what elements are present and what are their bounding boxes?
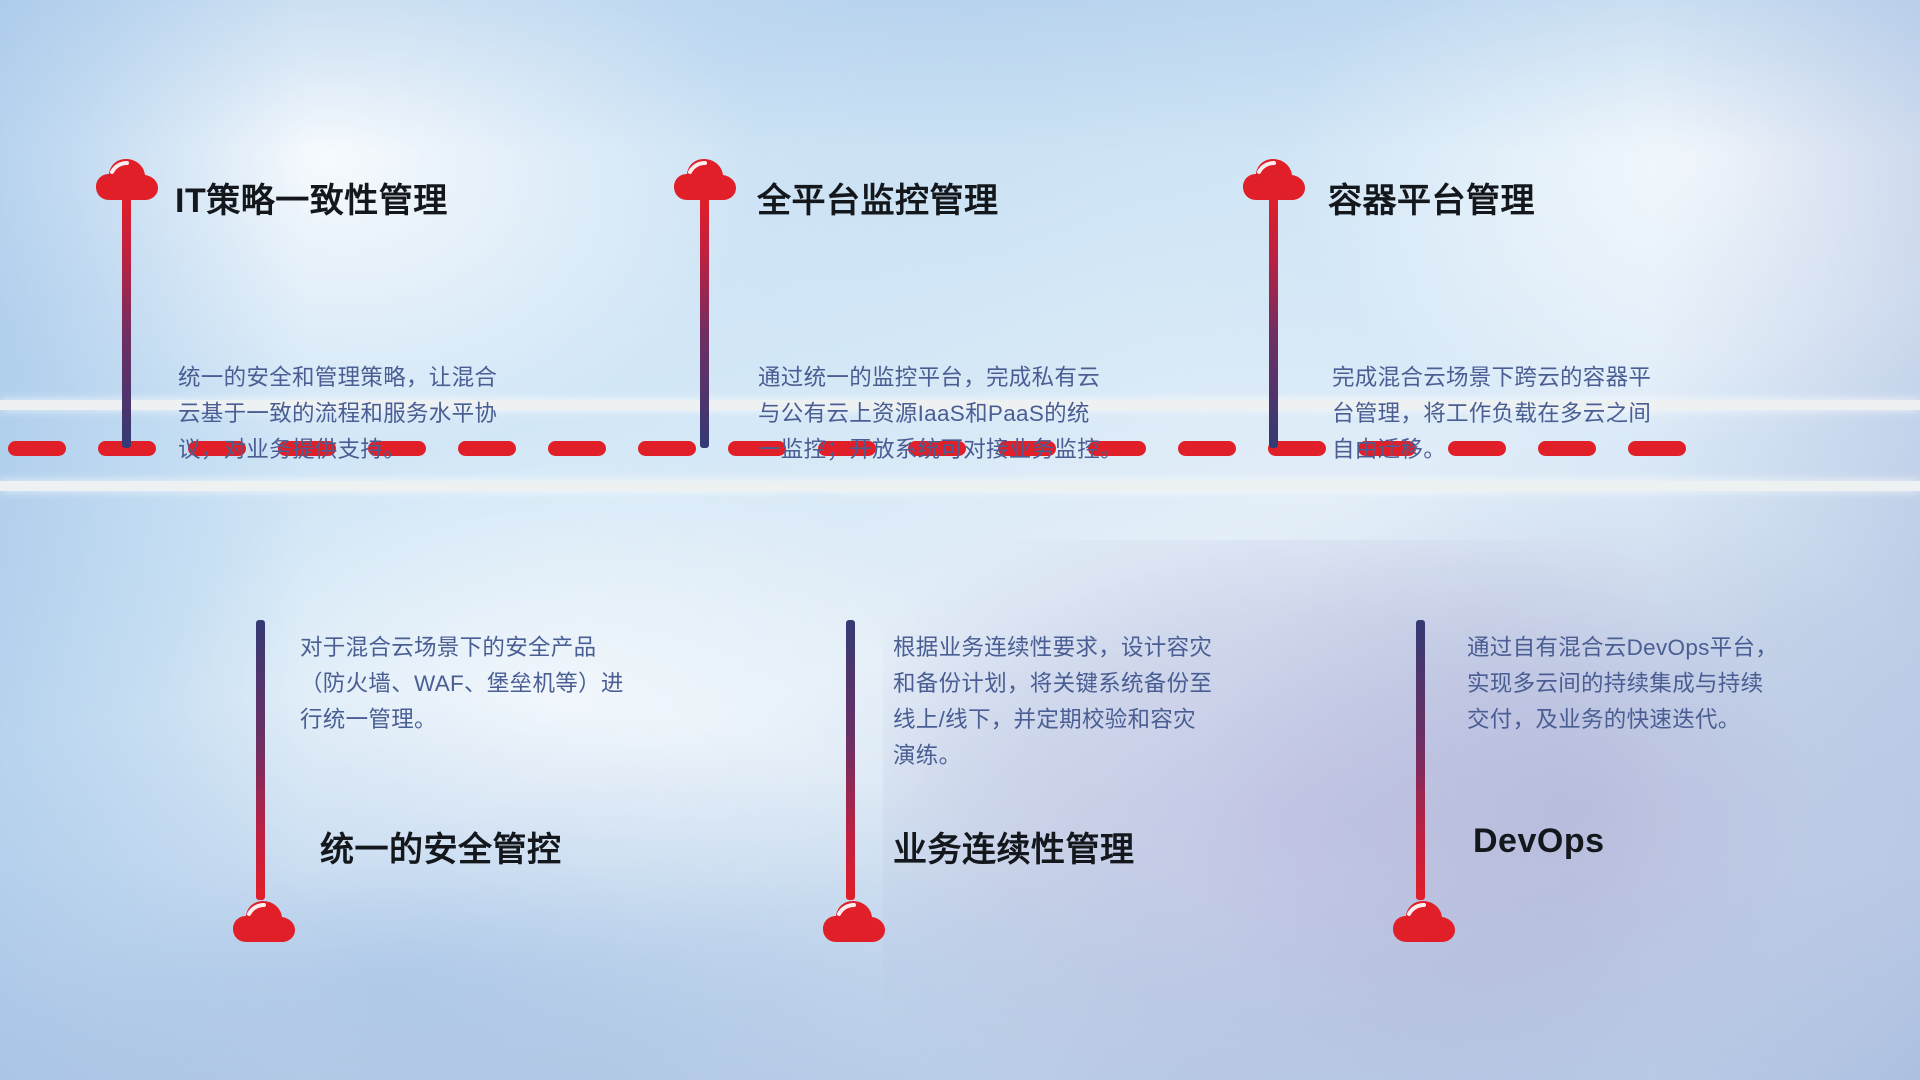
feature-title: 业务连续性管理 [893, 822, 1333, 871]
desc-line: 和备份计划，将关键系统备份至 [893, 666, 1363, 702]
desc-line: 完成混合云场景下跨云的容器平 [1332, 360, 1782, 396]
cloud-pin-2 [674, 158, 736, 202]
feature-block-6: DevOps [1473, 822, 1773, 861]
feature-title: DevOps [1473, 822, 1773, 861]
desc-line: 统一的安全和管理策略，让混合 [178, 360, 638, 396]
desc-line: 通过自有混合云DevOps平台， [1467, 630, 1917, 666]
desc-line: 台管理，将工作负载在多云之间 [1332, 396, 1782, 432]
desc-line: 行统一管理。 [300, 702, 770, 738]
pin-bar [122, 198, 131, 448]
feature-description: 完成混合云场景下跨云的容器平 台管理，将工作负载在多云之间 自由迁移。 [1332, 360, 1782, 468]
desc-line: 通过统一的监控平台，完成私有云 [758, 360, 1228, 396]
feature-block-5: 业务连续性管理 [893, 822, 1333, 871]
desc-line: 实现多云间的持续集成与持续 [1467, 666, 1917, 702]
feature-block-4: 统一的安全管控 [320, 822, 760, 871]
pin-bar [700, 198, 709, 448]
road-dash [8, 441, 66, 456]
desc-line: 与公有云上资源IaaS和PaaS的统 [758, 396, 1228, 432]
feature-description: 对于混合云场景下的安全产品 （防火墙、WAF、堡垒机等）进 行统一管理。 [300, 630, 770, 738]
feature-title: 统一的安全管控 [320, 822, 760, 871]
pin-bar [1416, 620, 1425, 900]
desc-line: （防火墙、WAF、堡垒机等）进 [300, 666, 770, 702]
road-dash [638, 441, 696, 456]
feature-desc-3: 完成混合云场景下跨云的容器平 台管理，将工作负载在多云之间 自由迁移。 [1332, 360, 1782, 468]
feature-description: 通过统一的监控平台，完成私有云 与公有云上资源IaaS和PaaS的统 一监控；开… [758, 360, 1228, 468]
cloud-icon [1243, 158, 1305, 202]
pin-bar [1269, 198, 1278, 448]
desc-line: 议，对业务提供支持。 [178, 432, 638, 468]
feature-title: 容器平台管理 [1328, 173, 1758, 222]
cloud-pin-3 [1243, 158, 1305, 202]
desc-line: 自由迁移。 [1332, 432, 1782, 468]
cloud-icon [1393, 900, 1455, 944]
feature-description: 统一的安全和管理策略，让混合 云基于一致的流程和服务水平协 议，对业务提供支持。 [178, 360, 638, 468]
cloud-icon [674, 158, 736, 202]
feature-title: IT策略一致性管理 [175, 173, 615, 222]
desc-line: 一监控；开放系统可对接业务监控。 [758, 432, 1228, 468]
cloud-icon [823, 900, 885, 944]
feature-desc-4: 对于混合云场景下的安全产品 （防火墙、WAF、堡垒机等）进 行统一管理。 [300, 630, 770, 738]
feature-description: 根据业务连续性要求，设计容灾 和备份计划，将关键系统备份至 线上/线下，并定期校… [893, 630, 1363, 774]
cloud-pin-1 [96, 158, 158, 202]
feature-title: 全平台监控管理 [757, 173, 1197, 222]
feature-block-2: 全平台监控管理 [757, 173, 1197, 222]
cloud-icon [233, 900, 295, 944]
feature-desc-2: 通过统一的监控平台，完成私有云 与公有云上资源IaaS和PaaS的统 一监控；开… [758, 360, 1228, 468]
feature-block-1: IT策略一致性管理 [175, 173, 615, 222]
desc-line: 云基于一致的流程和服务水平协 [178, 396, 638, 432]
pin-bar [256, 620, 265, 900]
desc-line: 对于混合云场景下的安全产品 [300, 630, 770, 666]
pin-bar [846, 620, 855, 900]
desc-line: 根据业务连续性要求，设计容灾 [893, 630, 1363, 666]
road-edge-bottom [0, 481, 1920, 491]
desc-line: 交付，及业务的快速迭代。 [1467, 702, 1917, 738]
feature-desc-5: 根据业务连续性要求，设计容灾 和备份计划，将关键系统备份至 线上/线下，并定期校… [893, 630, 1363, 774]
desc-line: 演练。 [893, 738, 1363, 774]
desc-line: 线上/线下，并定期校验和容灾 [893, 702, 1363, 738]
cloud-icon [96, 158, 158, 202]
feature-desc-1: 统一的安全和管理策略，让混合 云基于一致的流程和服务水平协 议，对业务提供支持。 [178, 360, 638, 468]
feature-desc-6: 通过自有混合云DevOps平台， 实现多云间的持续集成与持续 交付，及业务的快速… [1467, 630, 1917, 738]
feature-block-3: 容器平台管理 [1328, 173, 1758, 222]
feature-description: 通过自有混合云DevOps平台， 实现多云间的持续集成与持续 交付，及业务的快速… [1467, 630, 1917, 738]
